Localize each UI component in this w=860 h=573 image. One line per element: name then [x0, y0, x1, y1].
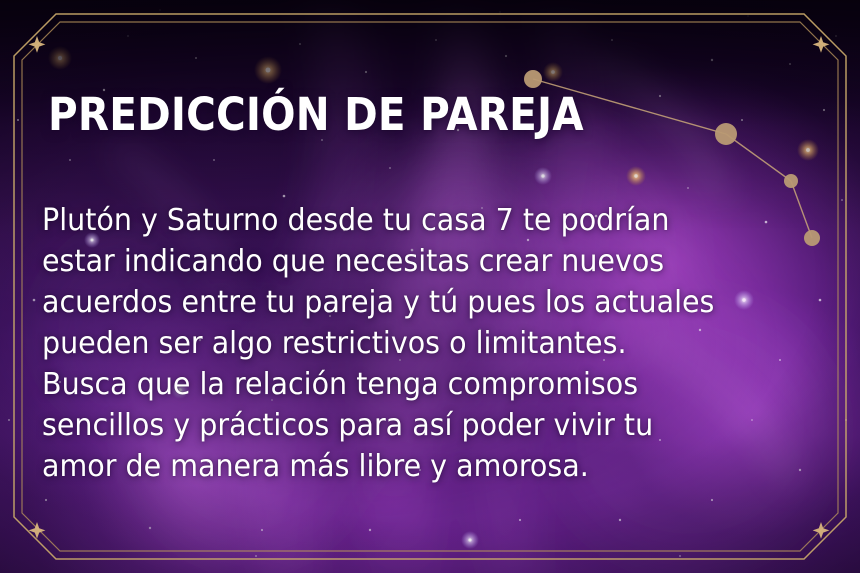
body-text-line: Busca que la relación tenga compromisos	[42, 364, 734, 405]
body-text-line: amor de manera más libre y amorosa.	[42, 446, 734, 487]
body-text-line: acuerdos entre tu pareja y tú pues los a…	[42, 282, 734, 323]
body-text-line: Plutón y Saturno desde tu casa 7 te podr…	[42, 200, 734, 241]
sparkle-icon-bottom-left	[29, 522, 46, 539]
body-text-line: sencillos y prácticos para así poder viv…	[42, 405, 734, 446]
sparkle-icon-top-left	[29, 36, 46, 53]
sparkle-icon-bottom-right	[813, 522, 830, 539]
page-title: PREDICCIÓN DE PAREJA	[48, 92, 584, 137]
prediction-body-text: Plutón y Saturno desde tu casa 7 te podr…	[42, 200, 734, 487]
card-content: PREDICCIÓN DE PAREJA Plutón y Saturno de…	[48, 0, 808, 573]
sparkle-icon-top-right	[813, 36, 830, 53]
body-text-line: estar indicando que necesitas crear nuev…	[42, 241, 734, 282]
body-text-line: pueden ser algo restrictivos o limitante…	[42, 323, 734, 364]
horoscope-card: PREDICCIÓN DE PAREJA Plutón y Saturno de…	[0, 0, 860, 573]
